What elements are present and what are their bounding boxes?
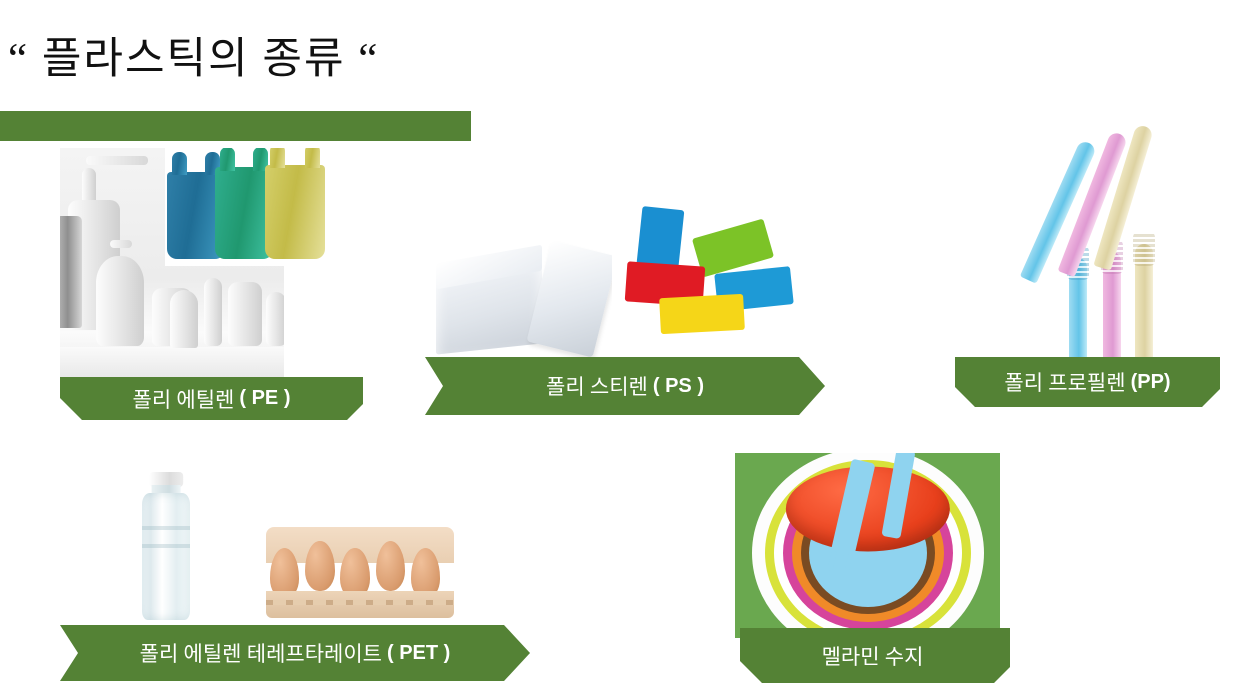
title-accent-bar bbox=[0, 111, 471, 141]
jar-wide bbox=[228, 282, 262, 346]
label-ps-code: ( PS ) bbox=[653, 375, 704, 398]
egg bbox=[305, 541, 334, 591]
label-pet-main: 폴리 에틸렌 테레프타레이트 bbox=[140, 638, 382, 668]
bottle-slim bbox=[204, 278, 222, 346]
label-pp-main: 폴리 프로필렌 bbox=[1004, 367, 1125, 397]
label-banner-pet[interactable]: 폴리 에틸렌 테레프타레이트 ( PET ) bbox=[60, 625, 530, 681]
label-pe-main: 폴리 에틸렌 bbox=[133, 384, 235, 414]
plastic-bag-yellow bbox=[265, 165, 325, 259]
melamine-dishes-photo bbox=[735, 453, 1000, 638]
egg-carton-photo bbox=[262, 505, 458, 625]
bottle-silver bbox=[60, 216, 82, 328]
label-pp-code: (PP) bbox=[1131, 371, 1171, 394]
label-melamine-main: 멜라민 수지 bbox=[822, 641, 924, 671]
bendy-straws-photo bbox=[957, 120, 1195, 370]
label-banner-melamine[interactable]: 멜라민 수지 bbox=[740, 628, 1010, 683]
label-pet-code: ( PET ) bbox=[387, 642, 450, 665]
bottle-body bbox=[142, 493, 190, 619]
label-banner-pp[interactable]: 폴리 프로필렌 (PP) bbox=[955, 357, 1220, 407]
jar-edge bbox=[266, 292, 284, 346]
egg bbox=[376, 541, 405, 591]
label-banner-ps[interactable]: 폴리 스티렌 ( PS ) bbox=[425, 357, 825, 415]
slide-canvas: “ 플라스틱의 종류 “ 폴리 에틸렌 ( PE ) bbox=[0, 0, 1240, 698]
label-pe-code: ( PE ) bbox=[239, 387, 290, 410]
pump-nozzle-icon bbox=[86, 156, 148, 165]
dispenser-nozzle-icon bbox=[110, 240, 132, 248]
colored-plastic-bags-photo bbox=[165, 148, 331, 266]
label-ps-main: 폴리 스티렌 bbox=[546, 371, 648, 401]
pet-water-bottle-photo bbox=[126, 466, 206, 626]
lego-studs bbox=[627, 254, 705, 268]
bottle-large bbox=[82, 168, 96, 204]
bottle-dispenser bbox=[96, 256, 144, 346]
straw-cream-bend bbox=[1133, 232, 1155, 266]
tube-container bbox=[170, 290, 198, 348]
lego-bricks-photo bbox=[612, 190, 812, 345]
label-banner-pe[interactable]: 폴리 에틸렌 ( PE ) bbox=[60, 377, 363, 420]
carton-base bbox=[266, 591, 454, 617]
styrofoam-box-photo bbox=[428, 215, 618, 360]
lego-studs bbox=[642, 199, 685, 212]
lego-studs bbox=[690, 212, 764, 241]
lego-brick-yellow bbox=[659, 294, 745, 334]
page-title: “ 플라스틱의 종류 “ bbox=[8, 24, 379, 86]
